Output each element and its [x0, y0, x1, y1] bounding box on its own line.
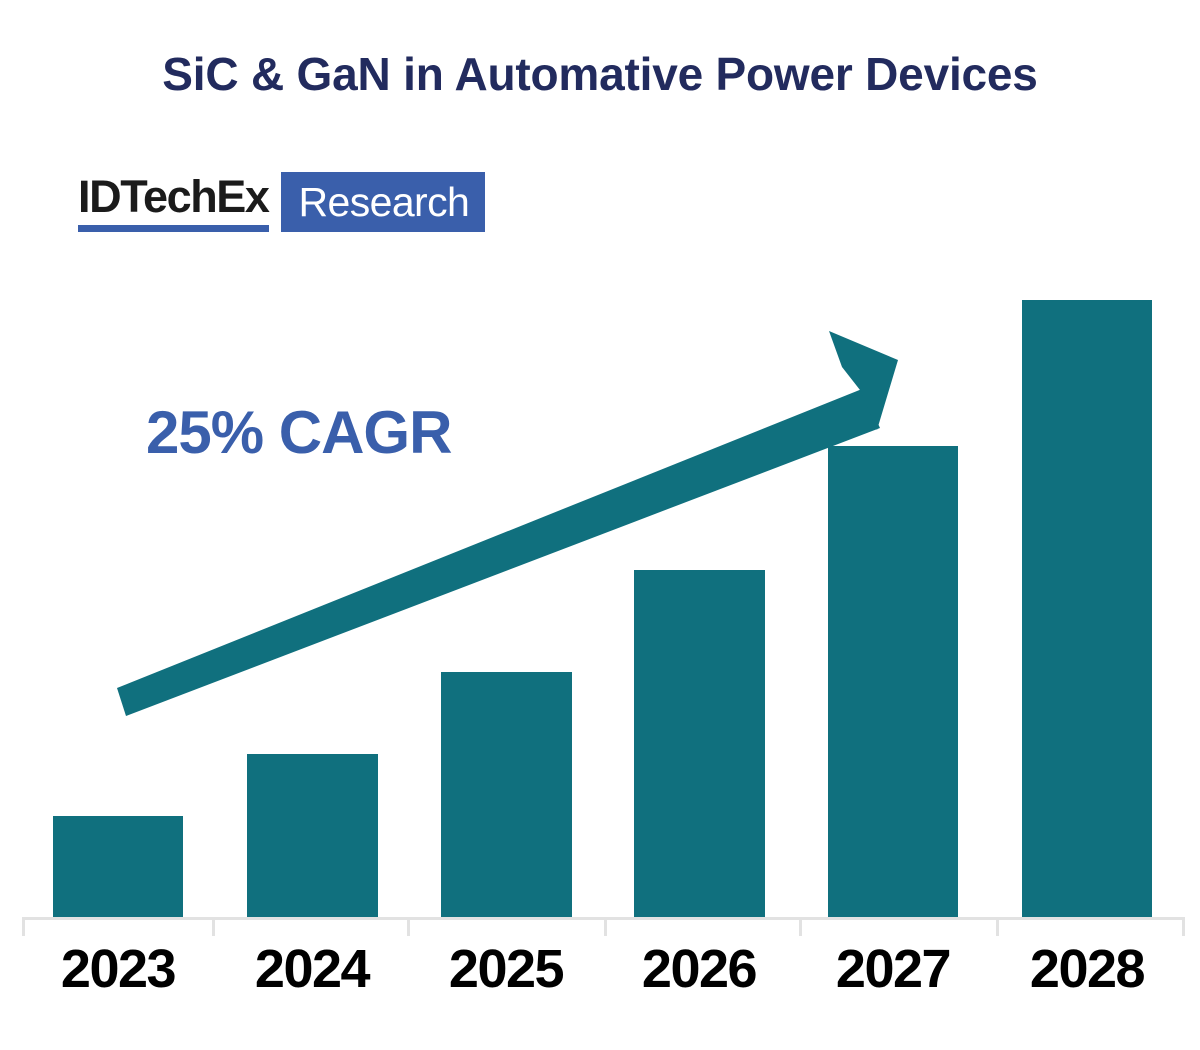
bar-series [53, 300, 1152, 918]
x-tick-label-2028: 2028 [987, 938, 1187, 1000]
x-tick-label-2024: 2024 [212, 938, 412, 1000]
x-tick-label-2023: 2023 [18, 938, 218, 1000]
x-tick-label-2027: 2027 [793, 938, 993, 1000]
bar-2023 [53, 816, 183, 918]
chart-canvas [0, 0, 1200, 1050]
infographic-root: SiC & GaN in Automative Power Devices ID… [0, 0, 1200, 1050]
x-axis-tick-labels: 2023 2024 2025 2026 2027 2028 [0, 938, 1200, 1018]
cagr-annotation-label: 25% CAGR [146, 398, 451, 467]
bar-2028 [1022, 300, 1152, 918]
x-tick-label-2025: 2025 [406, 938, 606, 1000]
bar-2026 [634, 570, 765, 918]
bar-2024 [247, 754, 378, 918]
bar-chart [0, 0, 1200, 1050]
bar-2025 [441, 672, 572, 918]
bar-2027 [828, 446, 958, 918]
x-axis [22, 918, 1185, 936]
x-tick-label-2026: 2026 [599, 938, 799, 1000]
growth-arrow-icon [117, 331, 898, 716]
